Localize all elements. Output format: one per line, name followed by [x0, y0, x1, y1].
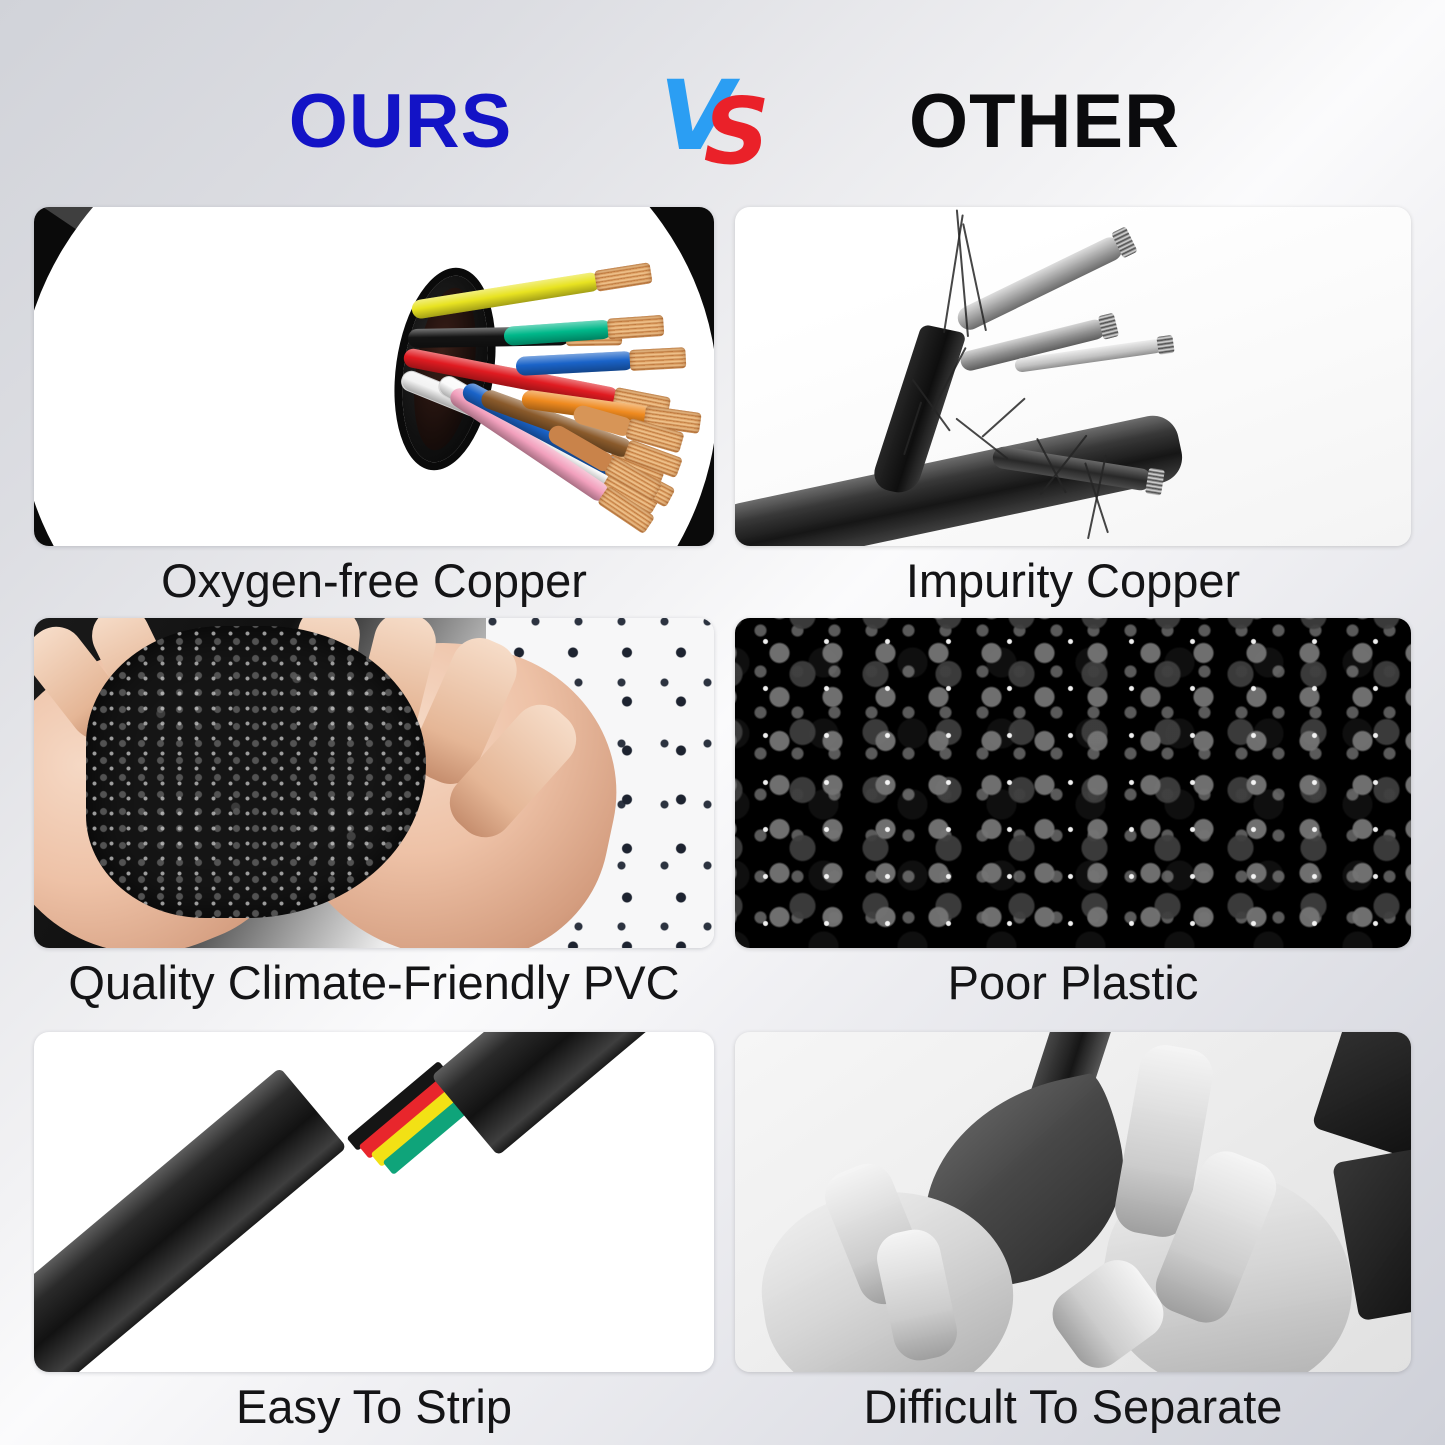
poor-quality-plastic-granules-photo	[735, 618, 1411, 948]
hands-holding-black-pvc-pellets-photo	[34, 618, 714, 948]
hands-cutting-cable-with-knife-photo	[735, 1032, 1411, 1372]
header: OURS V S OTHER	[0, 62, 1445, 182]
vs-badge: V S	[648, 66, 798, 178]
cable-jacket-pulled-apart-photo	[34, 1032, 714, 1372]
caption-impurity-copper: Impurity Copper	[735, 557, 1411, 604]
caption-easy-to-strip: Easy To Strip	[34, 1383, 714, 1430]
multi-core-cable-with-copper-strands-photo	[34, 207, 714, 546]
vs-s-letter: S	[704, 86, 770, 178]
header-other-label: OTHER	[798, 84, 1268, 160]
cell-other-impurity-copper: Impurity Copper	[735, 207, 1411, 546]
cell-other-difficult-to-separate: Difficult To Separate	[735, 1032, 1411, 1372]
caption-oxygen-free-copper: Oxygen-free Copper	[34, 557, 714, 604]
frayed-impurity-copper-cable-photo	[735, 207, 1411, 546]
comparison-grid: Oxygen-free Copper	[34, 207, 1411, 1387]
caption-difficult-to-separate: Difficult To Separate	[735, 1383, 1411, 1430]
cell-ours-quality-pvc: Quality Climate-Friendly PVC	[34, 618, 714, 948]
cell-ours-easy-to-strip: Easy To Strip	[34, 1032, 714, 1372]
caption-poor-plastic: Poor Plastic	[735, 959, 1411, 1006]
header-ours-label: OURS	[178, 84, 648, 160]
caption-quality-pvc: Quality Climate-Friendly PVC	[34, 959, 714, 1006]
cell-ours-oxygen-free-copper: Oxygen-free Copper	[34, 207, 714, 546]
comparison-infographic: OURS V S OTHER	[0, 0, 1445, 1445]
